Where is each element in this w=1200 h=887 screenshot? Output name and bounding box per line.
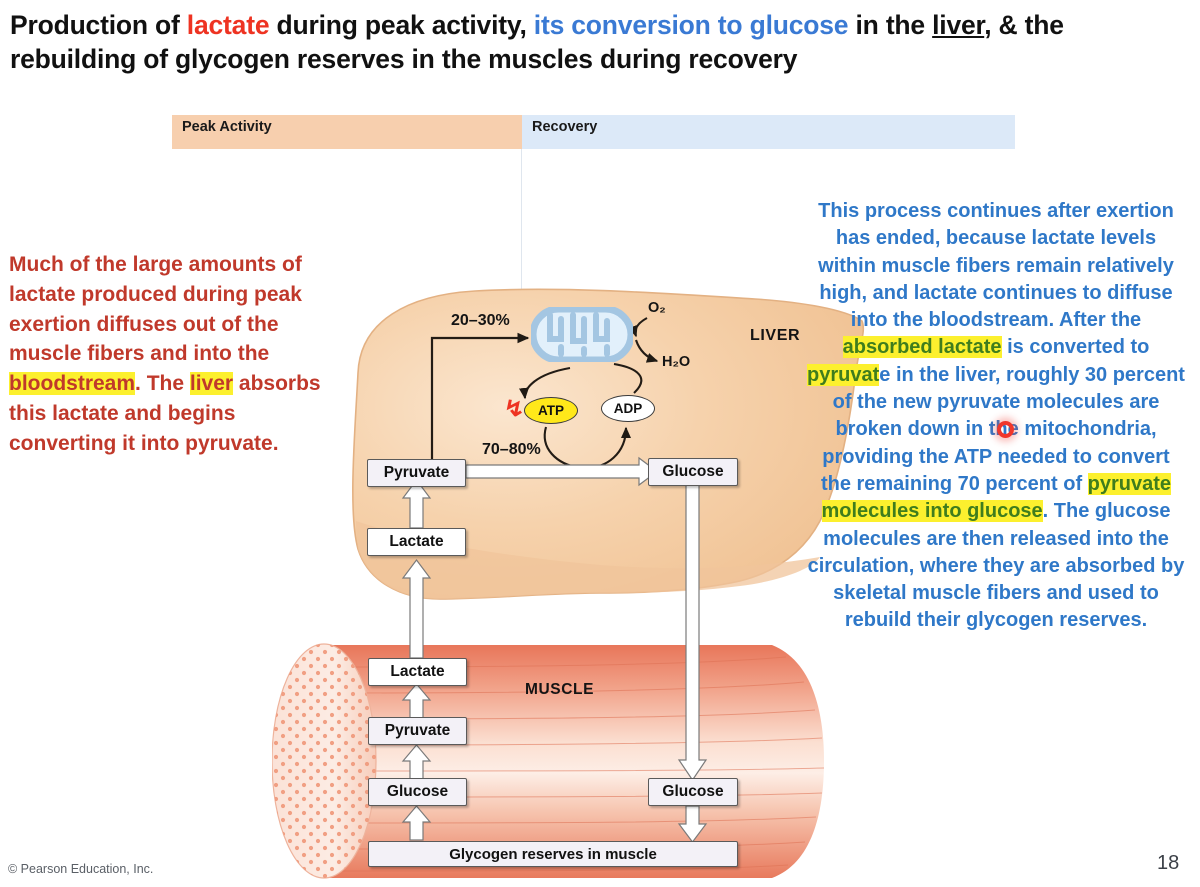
label-muscle: MUSCLE — [525, 681, 594, 699]
arc-adp-to-mito — [614, 364, 641, 393]
right-note-highlight-pyruvate: pyruvat — [807, 364, 879, 386]
mitochondrion-icon — [531, 307, 633, 362]
atp-molecule-label: ATP — [524, 397, 578, 424]
arrow-muscle-glucose-to-glycogen — [679, 806, 706, 842]
red-circle-annotation-icon — [997, 421, 1014, 438]
label-percent-to-glucose: 70–80% — [482, 441, 541, 459]
right-annotation-text: This process continues after exertion ha… — [806, 198, 1186, 635]
box-liver-lactate: Lactate — [367, 528, 466, 556]
box-liver-pyruvate: Pyruvate — [367, 459, 466, 487]
arrow-mito-to-atp — [525, 368, 570, 398]
label-oxygen: O₂ — [648, 300, 666, 316]
adp-molecule-label: ADP — [601, 395, 655, 422]
slide-canvas: Production of lactate during peak activi… — [0, 0, 1200, 882]
box-muscle-glucose-left: Glucose — [368, 778, 467, 806]
arrow-water-out — [636, 340, 657, 361]
label-percent-to-mitochondria: 20–30% — [451, 312, 510, 330]
right-note-highlight-absorbed-lactate: absorbed lactate — [843, 336, 1002, 358]
arc-atp-bottom — [545, 427, 580, 468]
copyright-notice: © Pearson Education, Inc. — [8, 862, 153, 876]
label-liver: LIVER — [750, 327, 800, 345]
arrow-liver-lactate-to-pyruvate — [403, 480, 430, 528]
lightning-bolt-icon: ↯ — [504, 396, 525, 422]
box-glycogen-reserves: Glycogen reserves in muscle — [368, 841, 738, 867]
mitochondrion-svg — [531, 307, 633, 362]
right-note-s1: This process continues after exertion ha… — [818, 200, 1174, 331]
box-muscle-lactate: Lactate — [368, 658, 467, 686]
arrow-muscle-lactate-to-liver-lactate — [403, 560, 430, 658]
label-water: H₂O — [662, 354, 690, 370]
box-muscle-glucose-right: Glucose — [648, 778, 738, 806]
arrow-glycogen-to-glucose — [403, 806, 430, 840]
arrow-muscle-pyruvate-to-lactate — [403, 684, 430, 718]
arrow-muscle-glucose-to-pyruvate — [403, 745, 430, 779]
page-number: 18 — [1157, 852, 1179, 875]
box-muscle-pyruvate: Pyruvate — [368, 717, 467, 745]
right-note-s2: is converted to — [1002, 336, 1150, 358]
arrow-liver-glucose-to-muscle-glucose — [679, 485, 706, 780]
arrow-oxygen-in — [635, 318, 647, 336]
box-liver-glucose: Glucose — [648, 458, 738, 486]
arrow-to-adp — [580, 428, 626, 468]
